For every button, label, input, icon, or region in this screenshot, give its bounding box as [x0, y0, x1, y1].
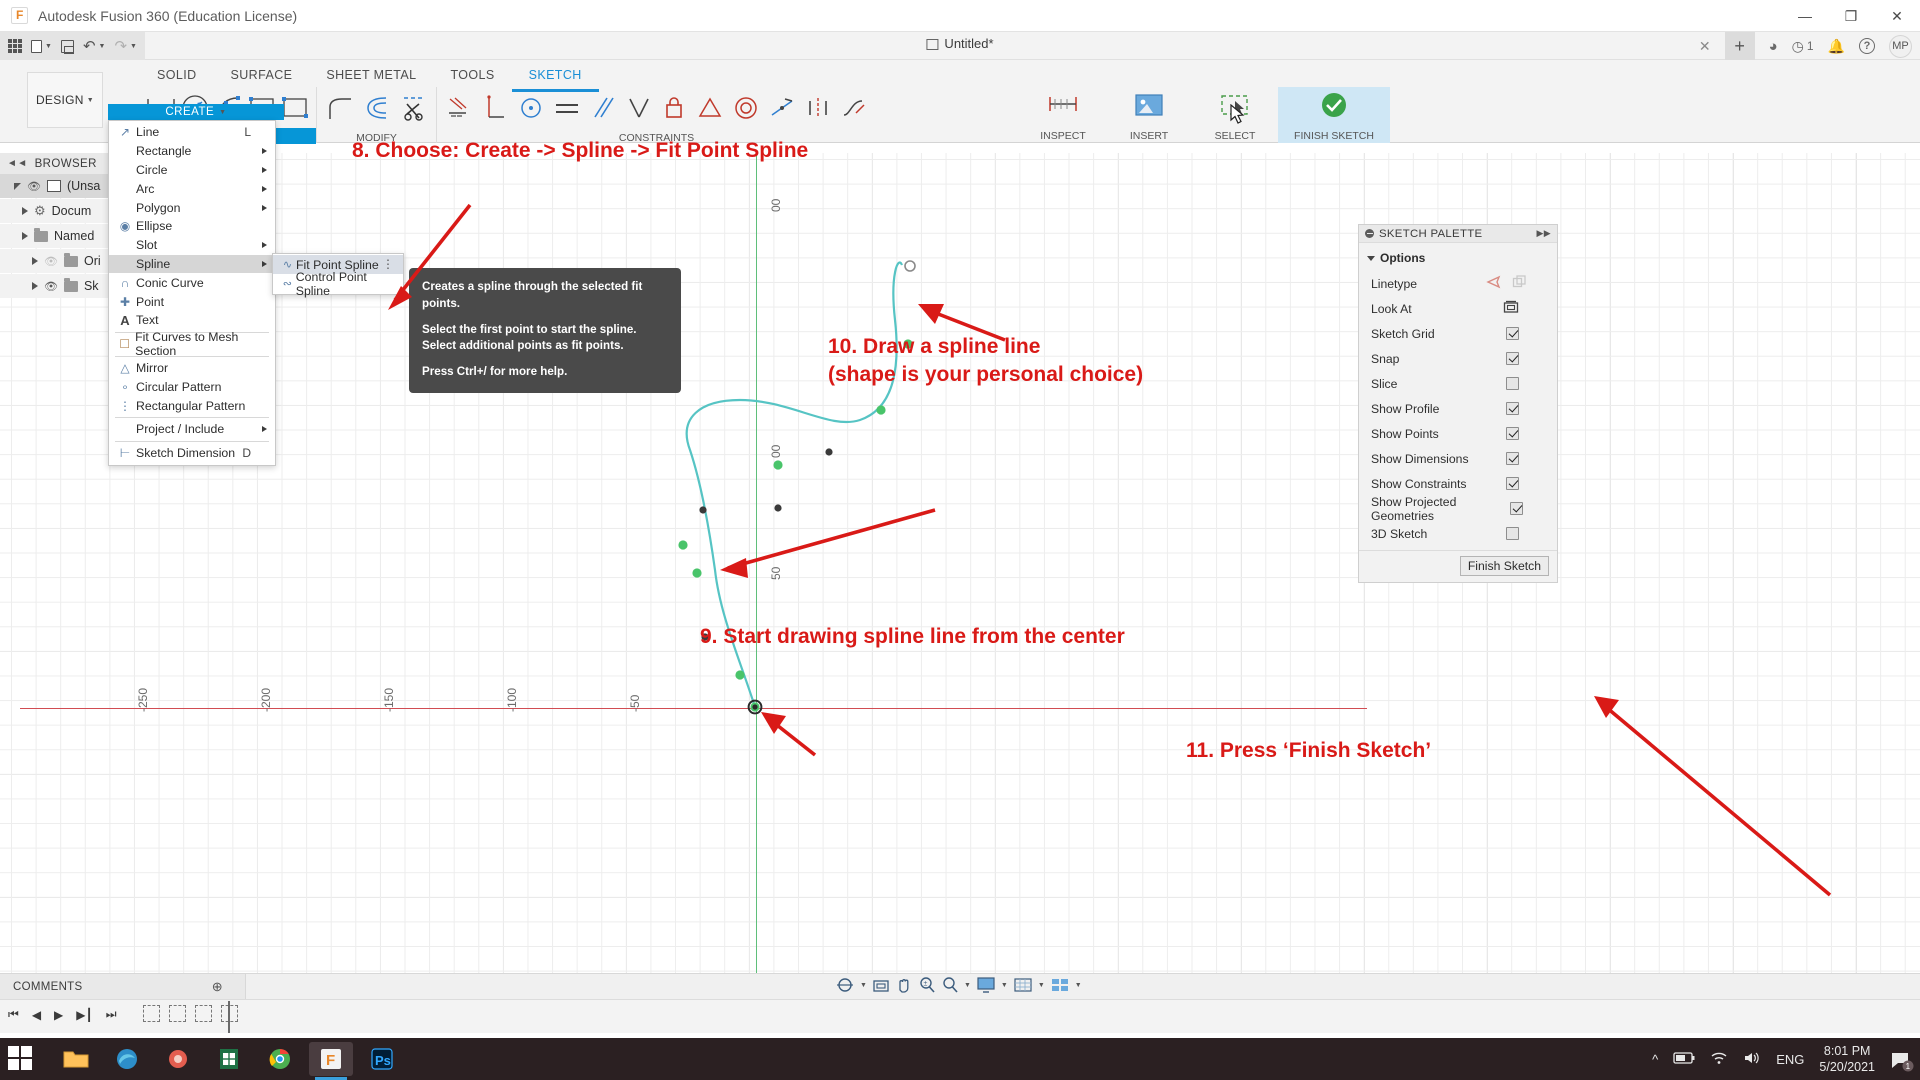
- taskbar-app-icon[interactable]: [156, 1042, 200, 1076]
- quick-access-group: ▼ ↶▼ ↷▼: [0, 32, 145, 60]
- create-dropdown-menu: ↗ Line L Rectangle Circle Arc Polygon ◉ …: [108, 120, 276, 466]
- show-constraints-checkbox[interactable]: [1506, 477, 1519, 490]
- select-label: SELECT: [1215, 130, 1256, 142]
- ribbon-group-constraints: CONSTRAINTS: [436, 87, 876, 143]
- palette-row-show-constraints[interactable]: Show Constraints: [1359, 471, 1557, 496]
- sketch-palette-title: SKETCH PALETTE: [1379, 228, 1482, 240]
- palette-row-3d-sketch[interactable]: 3D Sketch: [1359, 521, 1557, 546]
- zoom-tool-icon[interactable]: ±: [918, 976, 936, 994]
- expand-arrow-icon[interactable]: [22, 207, 28, 215]
- menu-separator: [115, 417, 269, 418]
- new-document-icon[interactable]: ▼: [31, 40, 52, 53]
- timeline-playback-controls: ⏮ ◀ ▶ ▶┃ ⏭: [8, 1007, 117, 1022]
- language-indicator[interactable]: ENG: [1776, 1052, 1804, 1067]
- expand-arrow-icon[interactable]: [14, 183, 21, 190]
- browser-row-label: Named: [54, 229, 94, 243]
- circular-pattern-icon: ∘: [117, 380, 133, 394]
- spline-submenu: ∿ Fit Point Spline ⋮ ∾ Control Point Spl…: [272, 253, 404, 295]
- fusion-logo-icon: [11, 7, 28, 24]
- palette-row-slice[interactable]: Slice: [1359, 371, 1557, 396]
- spline-tooltip: Creates a spline through the selected fi…: [409, 268, 681, 393]
- timeline-bar: ⏮ ◀ ▶ ▶┃ ⏭: [0, 999, 1920, 1033]
- visibility-eye-icon[interactable]: 👁: [44, 280, 58, 293]
- menu-item-project-include[interactable]: Project / Include: [109, 420, 275, 439]
- taskbar-excel-icon[interactable]: [207, 1042, 251, 1076]
- finish-sketch-label: FINISH SKETCH: [1294, 130, 1374, 142]
- equal-constraint-icon[interactable]: [549, 87, 585, 129]
- timeline-playhead[interactable]: [228, 1001, 230, 1033]
- show-points-checkbox[interactable]: [1506, 427, 1519, 440]
- palette-row-sketch-grid[interactable]: Sketch Grid: [1359, 321, 1557, 346]
- palette-row-snap[interactable]: Snap: [1359, 346, 1557, 371]
- look-at-nav-icon[interactable]: [872, 977, 890, 993]
- ribbon-group-modify: MODIFY: [316, 87, 436, 143]
- zoom-window-icon[interactable]: ▼: [941, 976, 971, 994]
- palette-expand-icon[interactable]: ▶▶: [1537, 228, 1551, 239]
- taskbar-clock[interactable]: 8:01 PM 5/20/2021: [1819, 1043, 1875, 1076]
- menu-item-spline[interactable]: Spline: [109, 255, 275, 274]
- y-axis-line: [756, 153, 757, 973]
- ribbon-toolbar: DESIGN▼ SOLID SURFACE SHEET METAL TOOLS …: [0, 60, 1920, 143]
- palette-row-show-points[interactable]: Show Points: [1359, 421, 1557, 446]
- offset-tool-icon[interactable]: [358, 87, 395, 129]
- inspect-label: INSPECT: [1040, 130, 1086, 142]
- workspace-switcher[interactable]: DESIGN▼: [27, 72, 103, 128]
- menu-item-ellipse[interactable]: ◉ Ellipse: [109, 217, 275, 236]
- mouse-cursor: [1230, 104, 1246, 126]
- menu-item-mirror[interactable]: △ Mirror: [109, 359, 275, 378]
- notifications-bell-icon[interactable]: 🔔: [1828, 38, 1845, 55]
- start-button[interactable]: [8, 1046, 34, 1072]
- maximize-button[interactable]: ❐: [1828, 0, 1874, 32]
- taskbar-edge-icon[interactable]: [105, 1042, 149, 1076]
- browser-row-label: Docum: [52, 204, 92, 218]
- go-to-end-icon[interactable]: ⏭: [106, 1007, 117, 1022]
- expand-arrow-icon[interactable]: [32, 257, 38, 265]
- canvas-geometry-layer: [0, 0, 1920, 1080]
- mirror-icon: △: [117, 361, 133, 375]
- tangent-constraint-icon[interactable]: [513, 87, 549, 129]
- window-title: Autodesk Fusion 360 (Education License): [38, 8, 297, 24]
- 3d-sketch-checkbox[interactable]: [1506, 527, 1519, 540]
- component-icon: [47, 180, 61, 192]
- menu-item-point[interactable]: ✚ Point: [109, 292, 275, 311]
- folder-icon: [34, 231, 48, 242]
- minimize-button[interactable]: —: [1782, 0, 1828, 32]
- visibility-eye-icon[interactable]: 👁: [27, 180, 41, 193]
- wifi-icon[interactable]: [1710, 1051, 1728, 1068]
- sketch-origin-point: [749, 701, 762, 714]
- linetype-construction-icon[interactable]: [1512, 275, 1527, 292]
- line-icon: ↗: [117, 125, 133, 139]
- annotation-step-11: 11. Press ‘Finish Sketch’: [1186, 739, 1431, 763]
- palette-row-show-profile[interactable]: Show Profile: [1359, 396, 1557, 421]
- annotation-step-10: 10. Draw a spline line (shape is your pe…: [828, 333, 1143, 390]
- timeline-feature-sketch-2[interactable]: [169, 1005, 186, 1022]
- notification-badge-count: 1: [1906, 1062, 1911, 1071]
- snap-checkbox[interactable]: [1506, 352, 1519, 365]
- close-button[interactable]: ✕: [1874, 0, 1920, 32]
- spline-control-points: [699, 448, 832, 640]
- system-tray: ^ ENG 8:01 PM 5/20/2021 1: [1652, 1038, 1912, 1080]
- folder-icon: [64, 281, 78, 292]
- create-menu-header[interactable]: CREATE▼: [108, 104, 284, 120]
- control-point-spline-icon: ∾: [279, 277, 296, 290]
- show-profile-checkbox[interactable]: [1506, 402, 1519, 415]
- data-panel-icon[interactable]: ◕: [1769, 38, 1778, 55]
- action-center-icon[interactable]: 1: [1890, 1050, 1912, 1068]
- expand-arrow-icon[interactable]: [22, 232, 28, 240]
- dimension-icon: ⊢: [117, 446, 133, 460]
- point-icon: ✚: [117, 295, 133, 309]
- job-status-icon[interactable]: ◷ 1: [1792, 38, 1814, 55]
- tooltip-line-1: Creates a spline through the selected fi…: [422, 279, 668, 313]
- taskbar-fusion360-icon[interactable]: F: [309, 1042, 353, 1076]
- midpoint-constraint-icon[interactable]: [764, 87, 800, 129]
- step-back-icon[interactable]: ◀: [32, 1008, 41, 1022]
- text-icon: A: [117, 313, 133, 328]
- folder-icon: [64, 256, 78, 267]
- expand-arrow-icon[interactable]: [32, 282, 38, 290]
- tooltip-line-3: Press Ctrl+/ for more help.: [422, 364, 668, 381]
- menu-item-circular-pattern[interactable]: ∘ Circular Pattern: [109, 377, 275, 396]
- palette-row-linetype[interactable]: Linetype: [1359, 271, 1557, 296]
- app-grid-icon[interactable]: [8, 39, 22, 53]
- menu-item-line[interactable]: ↗ Line L: [109, 123, 275, 142]
- show-dimensions-checkbox[interactable]: [1506, 452, 1519, 465]
- menu-separator: [115, 441, 269, 442]
- menu-item-polygon[interactable]: Polygon: [109, 198, 275, 217]
- sketch-palette: SKETCH PALETTE ▶▶ Options Linetype: [1358, 224, 1558, 583]
- collapse-browser-icon[interactable]: ◄◄: [7, 158, 28, 169]
- document-tab-label: Untitled*: [944, 36, 993, 51]
- palette-row-show-projected-geometries[interactable]: Show Projected Geometries: [1359, 496, 1557, 521]
- undo-icon[interactable]: ↶▼: [83, 39, 106, 54]
- menu-item-sketch-dimension[interactable]: ⊢ Sketch Dimension D: [109, 444, 275, 463]
- menu-item-conic-curve[interactable]: ∩ Conic Curve: [109, 273, 275, 292]
- submenu-item-control-point-spline[interactable]: ∾ Control Point Spline: [273, 274, 403, 293]
- menu-item-slot[interactable]: Slot: [109, 236, 275, 255]
- grid-snap-settings-icon[interactable]: ▼: [1013, 976, 1045, 994]
- orbit-tool-icon[interactable]: ▼: [835, 976, 867, 994]
- menu-item-arc[interactable]: Arc: [109, 179, 275, 198]
- sketch-palette-footer: Finish Sketch: [1359, 550, 1557, 582]
- display-settings-icon[interactable]: ▼: [976, 976, 1008, 994]
- parallel-constraint-icon[interactable]: [585, 87, 621, 129]
- save-icon[interactable]: [61, 40, 74, 53]
- sketch-grid-checkbox[interactable]: [1506, 327, 1519, 340]
- menu-item-circle[interactable]: Circle: [109, 161, 275, 180]
- annotation-step-9: 9. Start drawing spline line from the ce…: [700, 625, 1125, 649]
- comments-panel-toggle[interactable]: COMMENTS ⊕: [0, 974, 246, 1000]
- timeline-feature-sketch-1[interactable]: [143, 1005, 160, 1022]
- battery-icon[interactable]: [1673, 1052, 1695, 1067]
- show-projected-geometries-checkbox[interactable]: [1510, 502, 1523, 515]
- browser-row-label: Sk: [84, 279, 99, 293]
- palette-row-look-at[interactable]: Look At: [1359, 296, 1557, 321]
- trim-tool-icon[interactable]: [395, 87, 432, 129]
- menu-item-text[interactable]: A Text: [109, 311, 275, 330]
- play-icon[interactable]: ▶: [54, 1008, 63, 1022]
- viewport-layout-icon[interactable]: ▼: [1050, 976, 1082, 994]
- taskbar-photoshop-icon[interactable]: Ps: [360, 1042, 404, 1076]
- window-title-bar: Autodesk Fusion 360 (Education License) …: [0, 0, 1920, 32]
- help-icon[interactable]: ?: [1859, 38, 1875, 54]
- ribbon-right-tools: INSPECT INSERT SELECT FINISH SKETCH: [1020, 87, 1390, 143]
- browser-row-label: Ori: [84, 254, 101, 268]
- curvature-constraint-icon[interactable]: [836, 87, 872, 129]
- ellipse-icon: ◉: [117, 219, 133, 233]
- taskbar-chrome-icon[interactable]: [258, 1042, 302, 1076]
- insert-button[interactable]: INSERT: [1106, 87, 1192, 143]
- fit-point-spline-icon: ∿: [279, 258, 296, 271]
- palette-dot-icon: [1365, 229, 1374, 238]
- menu-item-rectangular-pattern[interactable]: ⋮ Rectangular Pattern: [109, 396, 275, 415]
- window-controls[interactable]: — ❐ ✕: [1782, 0, 1920, 32]
- palette-row-show-dimensions[interactable]: Show Dimensions: [1359, 446, 1557, 471]
- taskbar-apps: F Ps: [54, 1042, 404, 1076]
- tooltip-line-2: Select the first point to start the spli…: [422, 322, 668, 356]
- taskbar-time: 8:01 PM: [1819, 1043, 1875, 1060]
- document-cube-icon: [926, 38, 938, 50]
- insert-label: INSERT: [1130, 130, 1168, 142]
- browser-title: BROWSER: [35, 158, 97, 170]
- inspect-button[interactable]: INSPECT: [1020, 87, 1106, 143]
- finish-sketch-palette-button[interactable]: Finish Sketch: [1460, 556, 1549, 576]
- svg-text:±: ±: [923, 981, 927, 988]
- conic-icon: ∩: [117, 276, 133, 290]
- coincident-constraint-icon[interactable]: [477, 87, 513, 129]
- timeline-features: [143, 1005, 238, 1022]
- chevron-down-icon: [1367, 256, 1375, 261]
- quick-access-right: ✕ + ◕ ◷ 1 🔔 ? MP: [1699, 32, 1912, 60]
- volume-icon[interactable]: [1743, 1051, 1761, 1068]
- options-section-title[interactable]: Options: [1359, 249, 1557, 271]
- pan-tool-icon[interactable]: [895, 976, 913, 994]
- go-to-beginning-icon[interactable]: ⏮: [8, 1007, 19, 1022]
- navigation-bar: ▼ ± ▼ ▼ ▼ ▼: [835, 971, 1082, 999]
- close-tab-icon[interactable]: ✕: [1699, 38, 1711, 55]
- user-avatar[interactable]: MP: [1889, 35, 1912, 58]
- mesh-icon: ☐: [117, 337, 132, 351]
- rect-pattern-icon: ⋮: [117, 399, 133, 413]
- taskbar-file-explorer-icon[interactable]: [54, 1042, 98, 1076]
- symmetry-constraint-icon[interactable]: [800, 87, 836, 129]
- x-axis-line: [20, 708, 1367, 709]
- finish-sketch-button[interactable]: FINISH SKETCH: [1278, 87, 1390, 143]
- sketch-palette-header: SKETCH PALETTE ▶▶: [1359, 225, 1557, 243]
- taskbar-date: 5/20/2021: [1819, 1059, 1875, 1076]
- browser-row-label: (Unsa: [67, 179, 100, 193]
- step-forward-icon[interactable]: ▶┃: [76, 1008, 92, 1022]
- menu-item-fit-curves-to-mesh-section[interactable]: ☐ Fit Curves to Mesh Section: [109, 335, 275, 354]
- linetype-normal-icon[interactable]: [1486, 275, 1502, 292]
- svg-text:F: F: [326, 1052, 335, 1069]
- document-tab[interactable]: Untitled*: [926, 36, 993, 51]
- add-comment-icon[interactable]: ⊕: [212, 979, 223, 995]
- annotation-step-8: 8. Choose: Create -> Spline -> Fit Point…: [352, 139, 808, 163]
- perpendicular-constraint-icon[interactable]: [621, 87, 657, 129]
- fix-constraint-icon[interactable]: [441, 87, 477, 129]
- windows-taskbar: F Ps ^ ENG 8:01 PM 5/20/2021 1: [0, 1038, 1920, 1080]
- fillet-tool-icon[interactable]: [321, 87, 358, 129]
- visibility-eye-icon[interactable]: 👁: [44, 255, 58, 268]
- slice-checkbox[interactable]: [1506, 377, 1519, 390]
- timeline-feature-sketch-3[interactable]: [195, 1005, 212, 1022]
- annotation-step-10-line-2: (shape is your personal choice): [828, 361, 1143, 389]
- overflow-icon[interactable]: ⋮: [382, 260, 394, 268]
- sketch-palette-options: Options Linetype Look At: [1359, 243, 1557, 550]
- new-tab-button[interactable]: +: [1725, 32, 1755, 60]
- annotation-step-10-line-1: 10. Draw a spline line: [828, 333, 1143, 361]
- look-at-icon[interactable]: [1503, 300, 1519, 317]
- job-count: 1: [1807, 39, 1814, 53]
- redo-icon[interactable]: ↷▼: [114, 39, 137, 54]
- collinear-constraint-icon[interactable]: [692, 87, 728, 129]
- gear-icon: ⚙: [34, 203, 46, 219]
- menu-item-rectangle[interactable]: Rectangle: [109, 142, 275, 161]
- horizontal-vertical-constraint-icon[interactable]: [657, 87, 693, 129]
- quick-access-bar: ▼ ↶▼ ↷▼ Untitled* ✕ + ◕ ◷ 1 🔔 ? MP: [0, 32, 1920, 60]
- concentric-constraint-icon[interactable]: [728, 87, 764, 129]
- show-hidden-icons-chevron[interactable]: ^: [1652, 1052, 1658, 1067]
- svg-text:Ps: Ps: [375, 1053, 391, 1068]
